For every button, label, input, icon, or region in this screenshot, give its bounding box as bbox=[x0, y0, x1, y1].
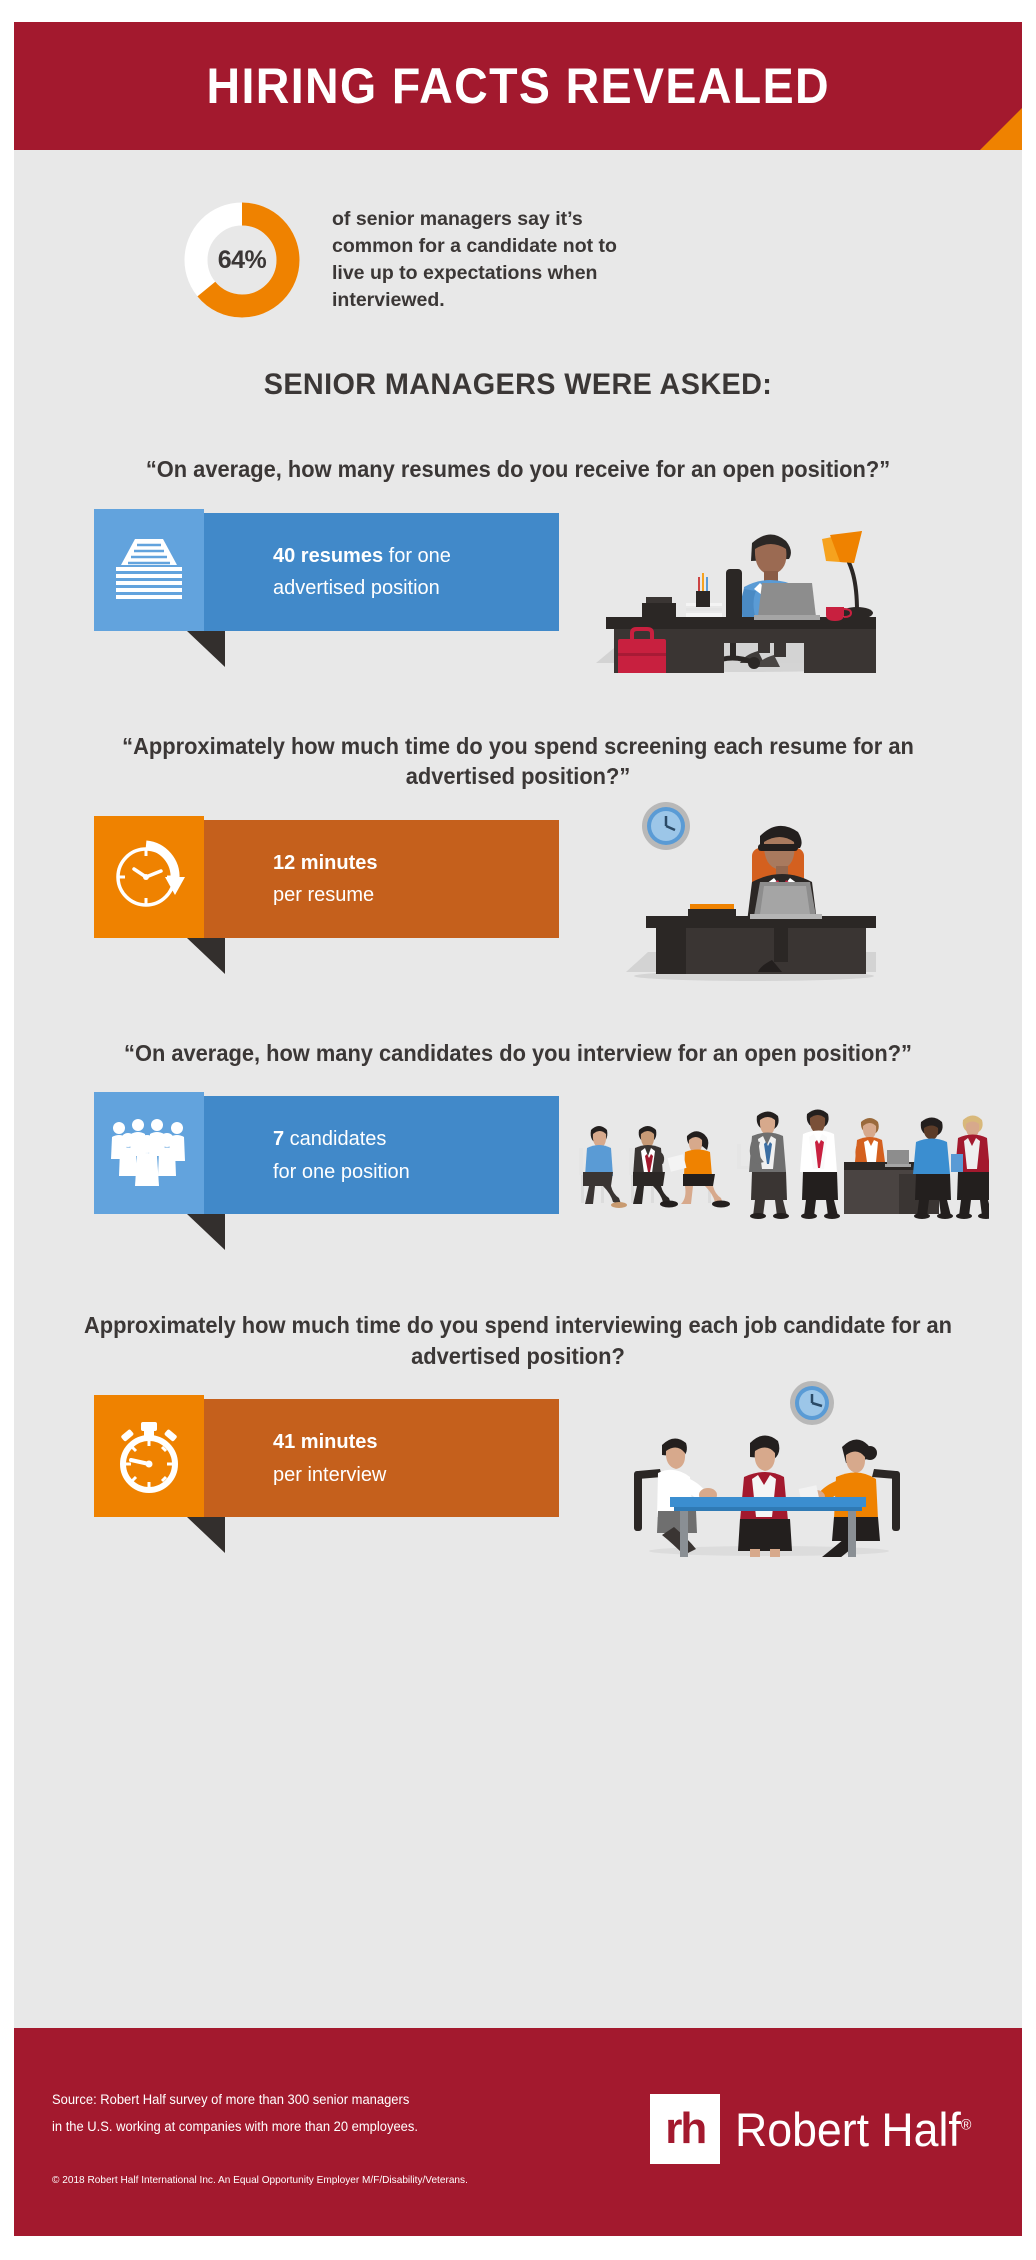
group-of-people-icon bbox=[94, 1092, 204, 1214]
answer-line2-2: per resume bbox=[273, 879, 377, 911]
footer-bar: Source: Robert Half survey of more than … bbox=[14, 2028, 1022, 2236]
answer-card-3: 7 candidates for one position bbox=[187, 1096, 559, 1214]
headline-stat-block: 64% of senior managers say it’s common f… bbox=[14, 150, 1022, 322]
answer-card-1: 40 resumes for one advertised position bbox=[187, 513, 559, 631]
robert-half-logo-word-text: Robert Half bbox=[735, 2103, 961, 2156]
candidates-lobby-illustration bbox=[569, 1100, 989, 1220]
donut-chart: 64% bbox=[180, 198, 304, 322]
answer-suffix-3: candidates bbox=[284, 1128, 386, 1150]
footer-source-line1: Source: Robert Half survey of more than … bbox=[52, 2086, 418, 2113]
question-3-text: “On average, how many candidates do you … bbox=[39, 1038, 997, 1069]
footer-source: Source: Robert Half survey of more than … bbox=[52, 2086, 418, 2140]
orange-corner-accent bbox=[980, 108, 1022, 150]
robert-half-logo-wordmark: Robert Half® bbox=[735, 2102, 971, 2157]
group-of-people-icon-svg bbox=[109, 1118, 189, 1188]
answer-value-1: 40 resumes bbox=[273, 545, 383, 567]
answer-text-3: 7 candidates for one position bbox=[273, 1123, 410, 1188]
answer-card-4: 41 minutes per interview bbox=[187, 1399, 559, 1517]
question-4-text: Approximately how much time do you spend… bbox=[39, 1310, 997, 1371]
robert-half-logo-mark-text: rh bbox=[665, 2107, 705, 2151]
answer-notch-4 bbox=[187, 1517, 225, 1553]
answer-card-2: 12 minutes per resume bbox=[187, 820, 559, 938]
answer-value-3: 7 bbox=[273, 1128, 284, 1150]
infographic-poster: HIRING FACTS REVEALED 64% of senior mana… bbox=[14, 22, 1022, 2236]
resume-stack-icon bbox=[94, 509, 204, 631]
answer-text-4: 41 minutes per interview bbox=[273, 1426, 386, 1491]
footer-copyright: © 2018 Robert Half International Inc. An… bbox=[52, 2174, 468, 2186]
stopwatch-icon-svg bbox=[111, 1418, 187, 1494]
robert-half-logo: rh Robert Half® bbox=[650, 2094, 984, 2164]
question-2-text: “Approximately how much time do you spen… bbox=[39, 731, 997, 792]
clock-arrow-icon-svg bbox=[110, 839, 188, 915]
answer-text-2: 12 minutes per resume bbox=[273, 847, 377, 912]
answer-value-2: 12 minutes bbox=[273, 852, 377, 874]
clock-arrow-icon bbox=[94, 816, 204, 938]
resume-stack-icon-svg bbox=[111, 535, 187, 605]
donut-percent-label: 64% bbox=[180, 198, 304, 322]
headline-stat-description: of senior managers say it’s common for a… bbox=[332, 206, 632, 314]
man-at-desk-illustration bbox=[604, 796, 904, 982]
answer-row-3: 7 candidates for one position bbox=[14, 1068, 1022, 1258]
answer-value-4: 41 minutes bbox=[273, 1431, 377, 1453]
interview-table-illustration bbox=[614, 1367, 924, 1557]
answer-row-1: 40 resumes for one advertised position bbox=[14, 485, 1022, 675]
answer-row-2: 12 minutes per resume bbox=[14, 792, 1022, 982]
question-1-text: “On average, how many resumes do you rec… bbox=[39, 454, 997, 485]
answer-line2-4: per interview bbox=[273, 1459, 386, 1491]
robert-half-logo-mark: rh bbox=[650, 2094, 720, 2164]
section-heading: SENIOR MANAGERS WERE ASKED: bbox=[34, 368, 1002, 402]
answer-suffix-1: for one bbox=[383, 545, 451, 567]
answer-line2-1: advertised position bbox=[273, 572, 451, 604]
answer-row-4: 41 minutes per interview bbox=[14, 1371, 1022, 1561]
footer-source-line2: in the U.S. working at companies with mo… bbox=[52, 2113, 418, 2140]
answer-text-1: 40 resumes for one advertised position bbox=[273, 540, 451, 605]
stopwatch-icon bbox=[94, 1395, 204, 1517]
page-title: HIRING FACTS REVEALED bbox=[206, 57, 830, 115]
woman-at-desk-illustration bbox=[574, 491, 904, 673]
answer-notch-1 bbox=[187, 631, 225, 667]
answer-notch-3 bbox=[187, 1214, 225, 1250]
answer-notch-2 bbox=[187, 938, 225, 974]
registered-trademark-icon: ® bbox=[961, 2116, 972, 2133]
answer-line2-3: for one position bbox=[273, 1156, 410, 1188]
header-banner: HIRING FACTS REVEALED bbox=[14, 22, 1022, 150]
